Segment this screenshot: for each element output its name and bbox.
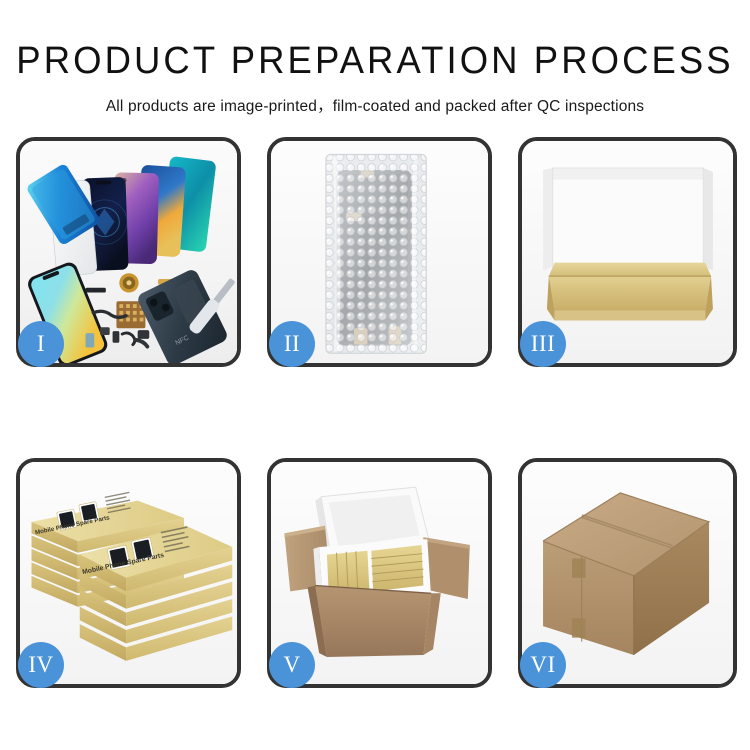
process-step-panel-5: V <box>267 458 492 688</box>
step-badge-6: VI <box>520 642 566 688</box>
process-step-panel-2: II <box>267 137 492 367</box>
process-step-panel-4: Mobile Phone Spare Parts <box>16 458 241 688</box>
product-preparation-infographic: PRODUCT PREPARATION PROCESS All products… <box>0 0 750 750</box>
page-subtitle: All products are image-printed，film-coat… <box>0 94 750 116</box>
step-badge-4: IV <box>18 642 64 688</box>
step-badge-2: II <box>269 321 315 367</box>
process-step-panel-3: III <box>518 137 737 367</box>
process-step-grid: NFC I <box>16 137 738 690</box>
process-step-panel-6: VI <box>518 458 737 688</box>
header: PRODUCT PREPARATION PROCESS All products… <box>0 0 750 116</box>
step-badge-5: V <box>269 642 315 688</box>
step-badge-1: I <box>18 321 64 367</box>
step-badge-3: III <box>520 321 566 367</box>
page-title: PRODUCT PREPARATION PROCESS <box>15 40 735 83</box>
process-step-panel-1: NFC I <box>16 137 241 367</box>
